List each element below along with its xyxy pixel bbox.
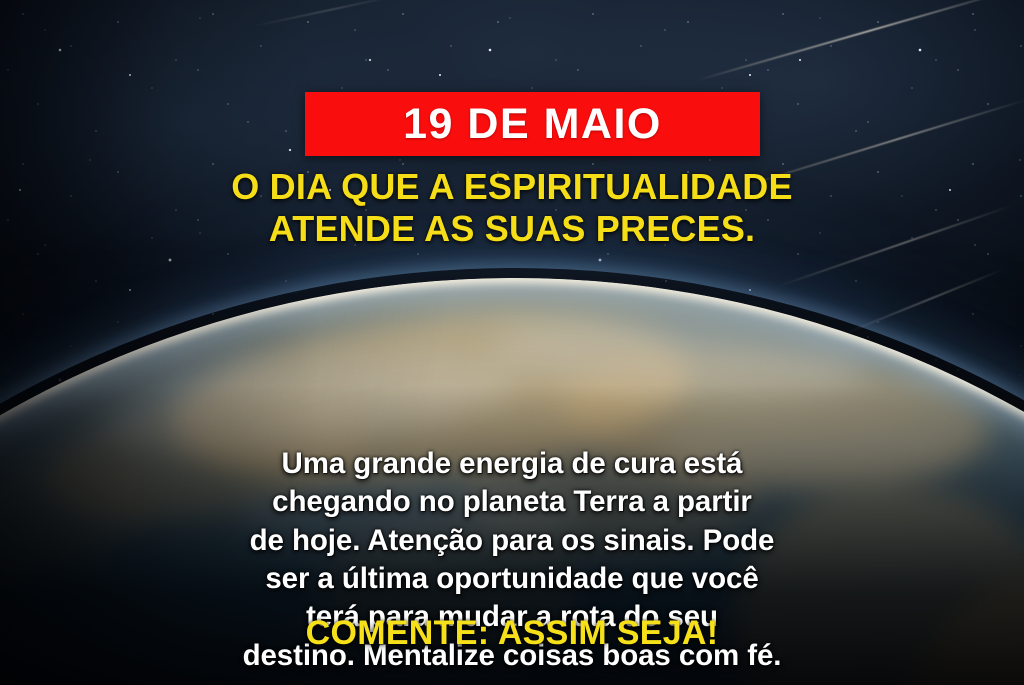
- poster-canvas: 19 DE MAIO O DIA QUE A ESPIRITUALIDADE A…: [0, 0, 1024, 685]
- body-line-3: de hoje. Atenção para os sinais. Pode: [52, 522, 972, 560]
- poster-content: 19 DE MAIO O DIA QUE A ESPIRITUALIDADE A…: [0, 0, 1024, 685]
- body-line-1: Uma grande energia de cura está: [52, 445, 972, 483]
- call-to-action: COMENTE: ASSIM SEJA!: [0, 614, 1024, 653]
- call-to-action-label: COMENTE: ASSIM SEJA!: [306, 614, 719, 652]
- body-line-2: chegando no planeta Terra a partir: [52, 483, 972, 521]
- headline-line-2: ATENDE AS SUAS PRECES.: [0, 208, 1024, 250]
- headline: O DIA QUE A ESPIRITUALIDADE ATENDE AS SU…: [0, 166, 1024, 250]
- date-banner: 19 DE MAIO: [305, 92, 760, 156]
- headline-line-1: O DIA QUE A ESPIRITUALIDADE: [231, 166, 792, 207]
- body-line-4: ser a última oportunidade que você: [52, 560, 972, 598]
- date-banner-label: 19 DE MAIO: [403, 103, 662, 146]
